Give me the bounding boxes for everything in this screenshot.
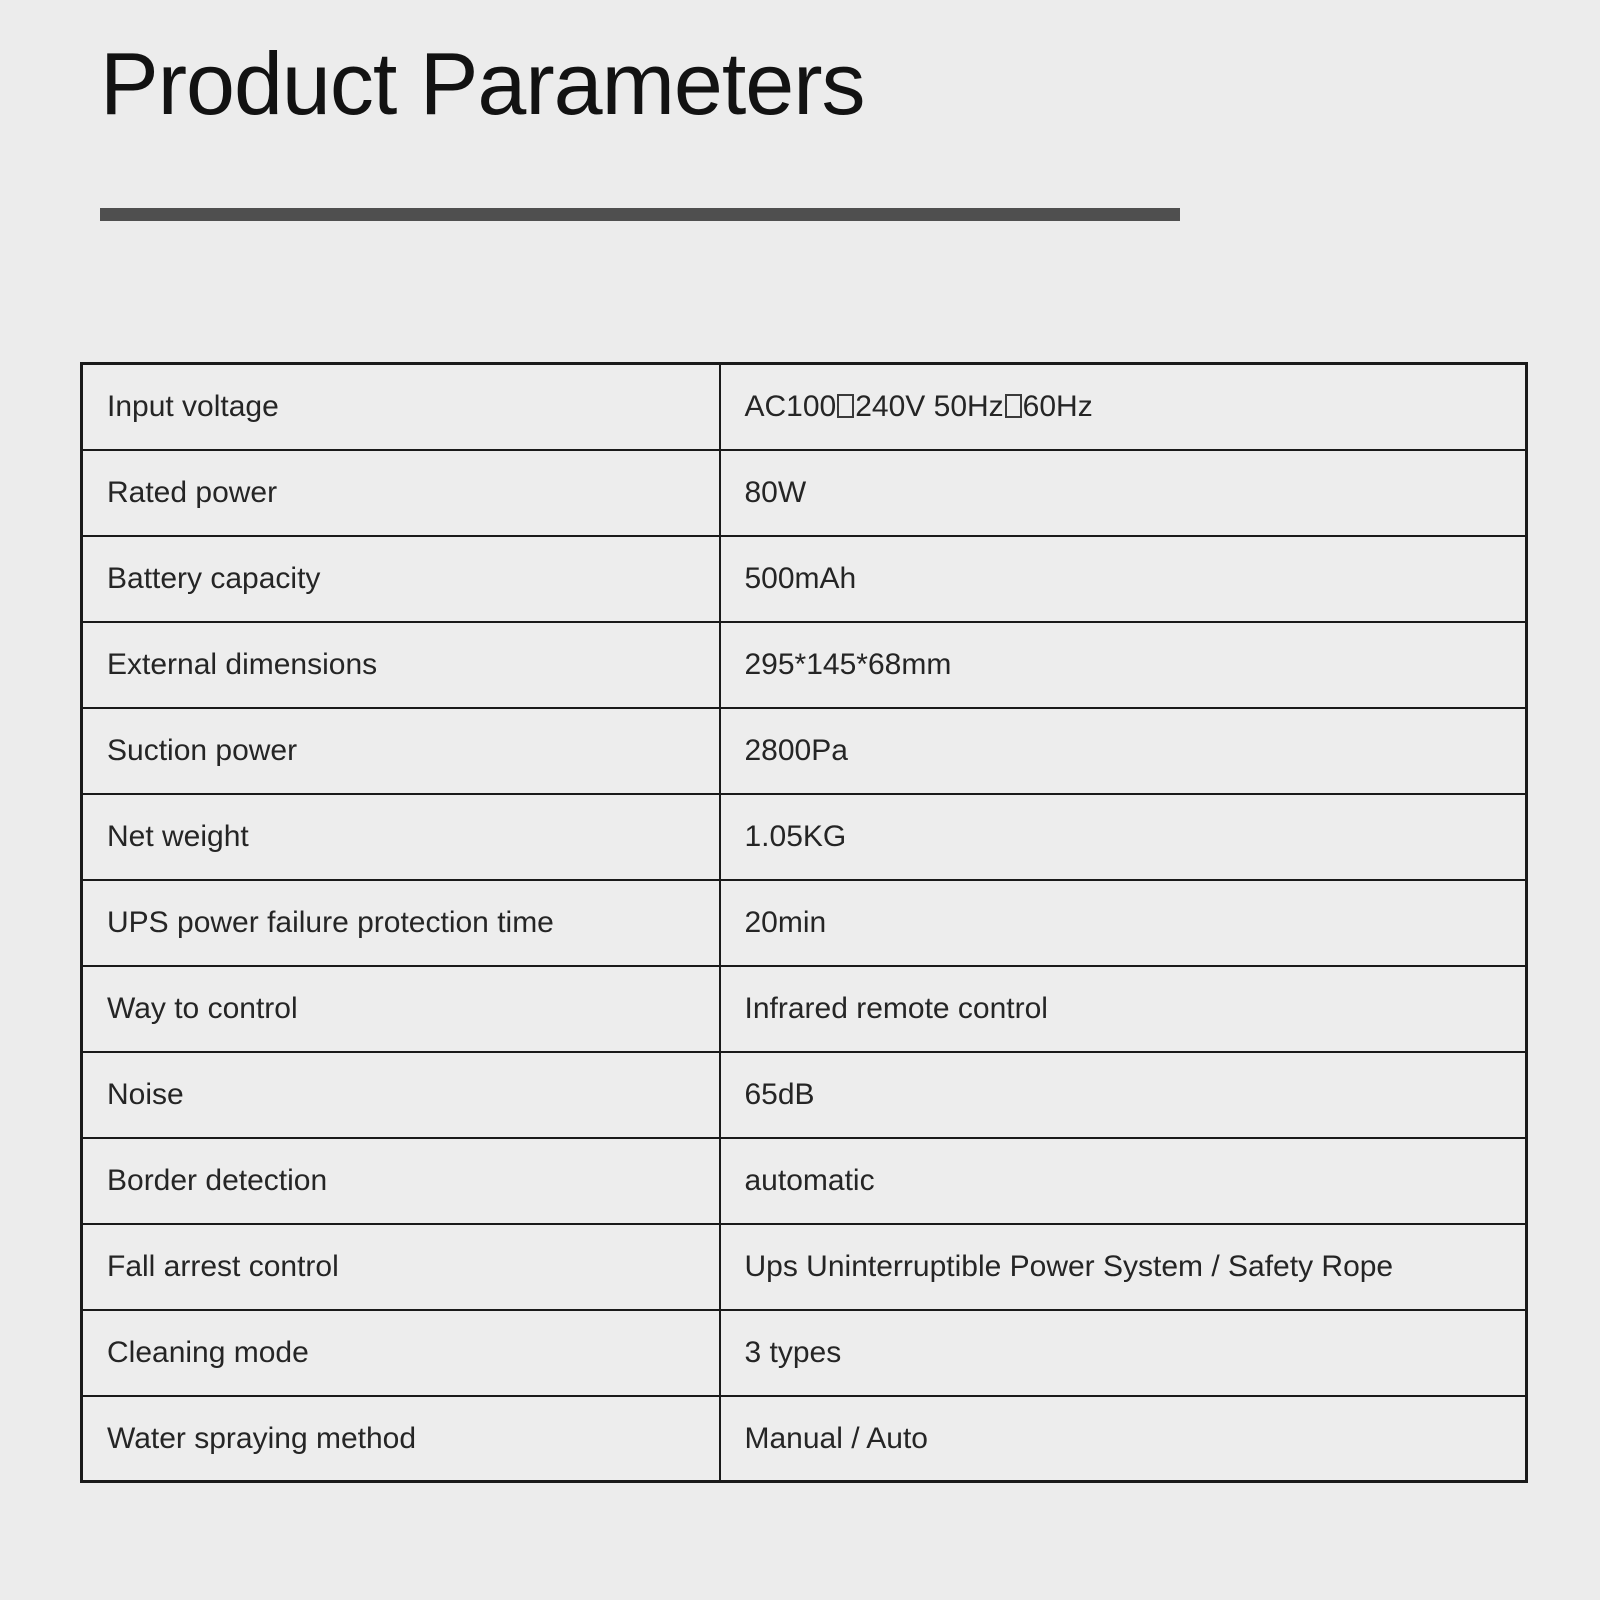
parameter-value-cell: Manual / Auto: [720, 1396, 1527, 1482]
parameter-label-cell: Cleaning mode: [82, 1310, 720, 1396]
table-row: UPS power failure protection time20min: [82, 880, 1527, 966]
table-row: Rated power80W: [82, 450, 1527, 536]
parameter-label-cell: UPS power failure protection time: [82, 880, 720, 966]
table-row: Battery capacity500mAh: [82, 536, 1527, 622]
parameter-value-cell: automatic: [720, 1138, 1527, 1224]
parameter-label-cell: Input voltage: [82, 364, 720, 450]
parameter-value-cell: 80W: [720, 450, 1527, 536]
parameter-value-cell: 1.05KG: [720, 794, 1527, 880]
parameter-value-cell: 20min: [720, 880, 1527, 966]
table-row: Input voltageAC100240V 50Hz60Hz: [82, 364, 1527, 450]
parameter-value-cell: 3 types: [720, 1310, 1527, 1396]
page-title: Product Parameters: [100, 38, 1500, 130]
table-row: Fall arrest controlUps Uninterruptible P…: [82, 1224, 1527, 1310]
table-row: Suction power2800Pa: [82, 708, 1527, 794]
parameter-label-cell: Way to control: [82, 966, 720, 1052]
table-body: Input voltageAC100240V 50Hz60HzRated pow…: [82, 364, 1527, 1482]
parameter-value-cell: Infrared remote control: [720, 966, 1527, 1052]
parameter-label-cell: Fall arrest control: [82, 1224, 720, 1310]
parameter-label-cell: Net weight: [82, 794, 720, 880]
header-block: Product Parameters: [100, 38, 1500, 130]
parameter-label-cell: Rated power: [82, 450, 720, 536]
parameter-label-cell: Water spraying method: [82, 1396, 720, 1482]
table-row: Cleaning mode3 types: [82, 1310, 1527, 1396]
parameter-value-cell: Ups Uninterruptible Power System / Safet…: [720, 1224, 1527, 1310]
table-row: Way to controlInfrared remote control: [82, 966, 1527, 1052]
parameter-label-cell: Suction power: [82, 708, 720, 794]
missing-glyph-box: [1005, 394, 1022, 418]
product-parameters-page: Product Parameters Input voltageAC100240…: [0, 0, 1600, 1600]
table-row: Border detectionautomatic: [82, 1138, 1527, 1224]
parameter-value-cell: 295*145*68mm: [720, 622, 1527, 708]
parameter-value-cell: 500mAh: [720, 536, 1527, 622]
parameter-label-cell: Border detection: [82, 1138, 720, 1224]
table-row: Net weight1.05KG: [82, 794, 1527, 880]
parameter-label-cell: External dimensions: [82, 622, 720, 708]
parameter-value-cell: AC100240V 50Hz60Hz: [720, 364, 1527, 450]
product-parameters-table: Input voltageAC100240V 50Hz60HzRated pow…: [80, 362, 1528, 1483]
table-row: External dimensions295*145*68mm: [82, 622, 1527, 708]
parameter-value-cell: 65dB: [720, 1052, 1527, 1138]
table-row: Water spraying methodManual / Auto: [82, 1396, 1527, 1482]
table-row: Noise65dB: [82, 1052, 1527, 1138]
parameter-value-cell: 2800Pa: [720, 708, 1527, 794]
missing-glyph-box: [837, 394, 854, 418]
title-underline-rule: [100, 208, 1180, 221]
parameter-label-cell: Battery capacity: [82, 536, 720, 622]
parameter-label-cell: Noise: [82, 1052, 720, 1138]
